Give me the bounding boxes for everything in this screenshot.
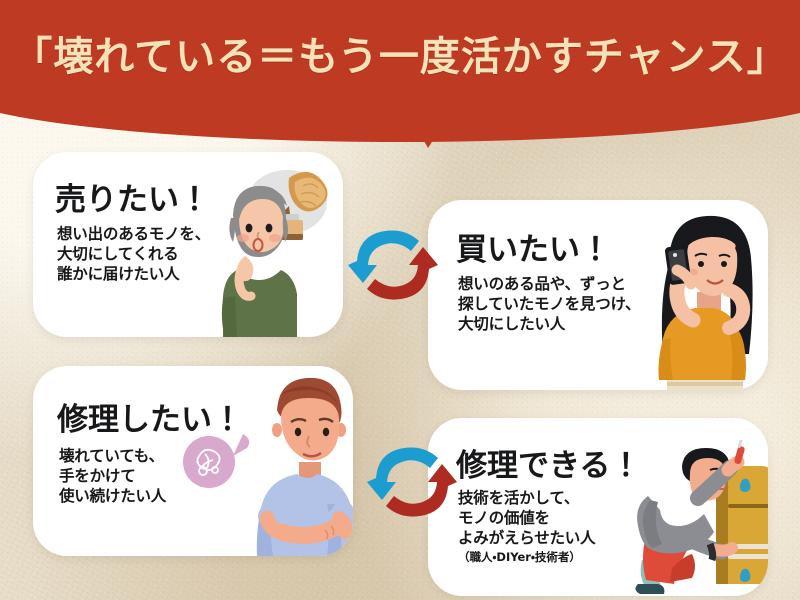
infographic-canvas: 「壊れている＝もう一度活かすチャンス」 売りたい！ 想い出のあるモノを、 大切に… [0,0,800,600]
arrow-return-icon [367,247,438,300]
card-sell-title: 売りたい！ [55,174,210,219]
illustration-man-arms-crossed [241,366,353,556]
card-buy[interactable]: 買いたい！ 想いのある品や、ずっと 探していたモノを見つけ、 大切にしたい人 [428,200,768,390]
card-can-fix-body: 技術を活かして、 モノの価値を よみがえらせたい人 [458,488,595,548]
banner-speech-tail-icon [406,108,454,148]
card-can-fix-title: 修理できる！ [456,440,641,485]
illustration-elderly-woman-gramophone [215,158,343,337]
card-buy-title: 買いたい！ [456,224,611,269]
illustration-craftsman-cabinet [624,440,768,596]
card-can-fix-note: （職人・DIYer・技術者） [458,549,581,565]
card-sell-body: 想い出のあるモノを、 大切にしてくれる 誰かに届けたい人 [57,224,210,284]
card-fix-title: 修理したい！ [57,394,243,439]
arrow-return-icon [386,464,457,517]
card-fix[interactable]: 修理したい！ 壊れていても、 手をかけて 使い続けたい人 [33,366,353,556]
card-buy-body: 想いのある品や、ずっと 探していたモノを見つけ、 大切にしたい人 [458,274,640,334]
illustration-young-woman-phone [633,204,768,390]
arrow-forward-icon [367,447,438,500]
card-fix-body: 壊れていても、 手をかけて 使い続けたい人 [59,446,166,506]
arrow-forward-icon [348,230,419,283]
recycle-arrows-bottom [352,432,472,532]
recycle-arrows-top [333,215,453,315]
page-title: 「壊れている＝もう一度活かすチャンス」 [0,24,800,82]
card-can-fix[interactable]: 修理できる！ 技術を活かして、 モノの価値を よみがえらせたい人 （職人・DIY… [428,418,768,596]
card-sell[interactable]: 売りたい！ 想い出のあるモノを、 大切にしてくれる 誰かに届けたい人 [33,152,343,337]
